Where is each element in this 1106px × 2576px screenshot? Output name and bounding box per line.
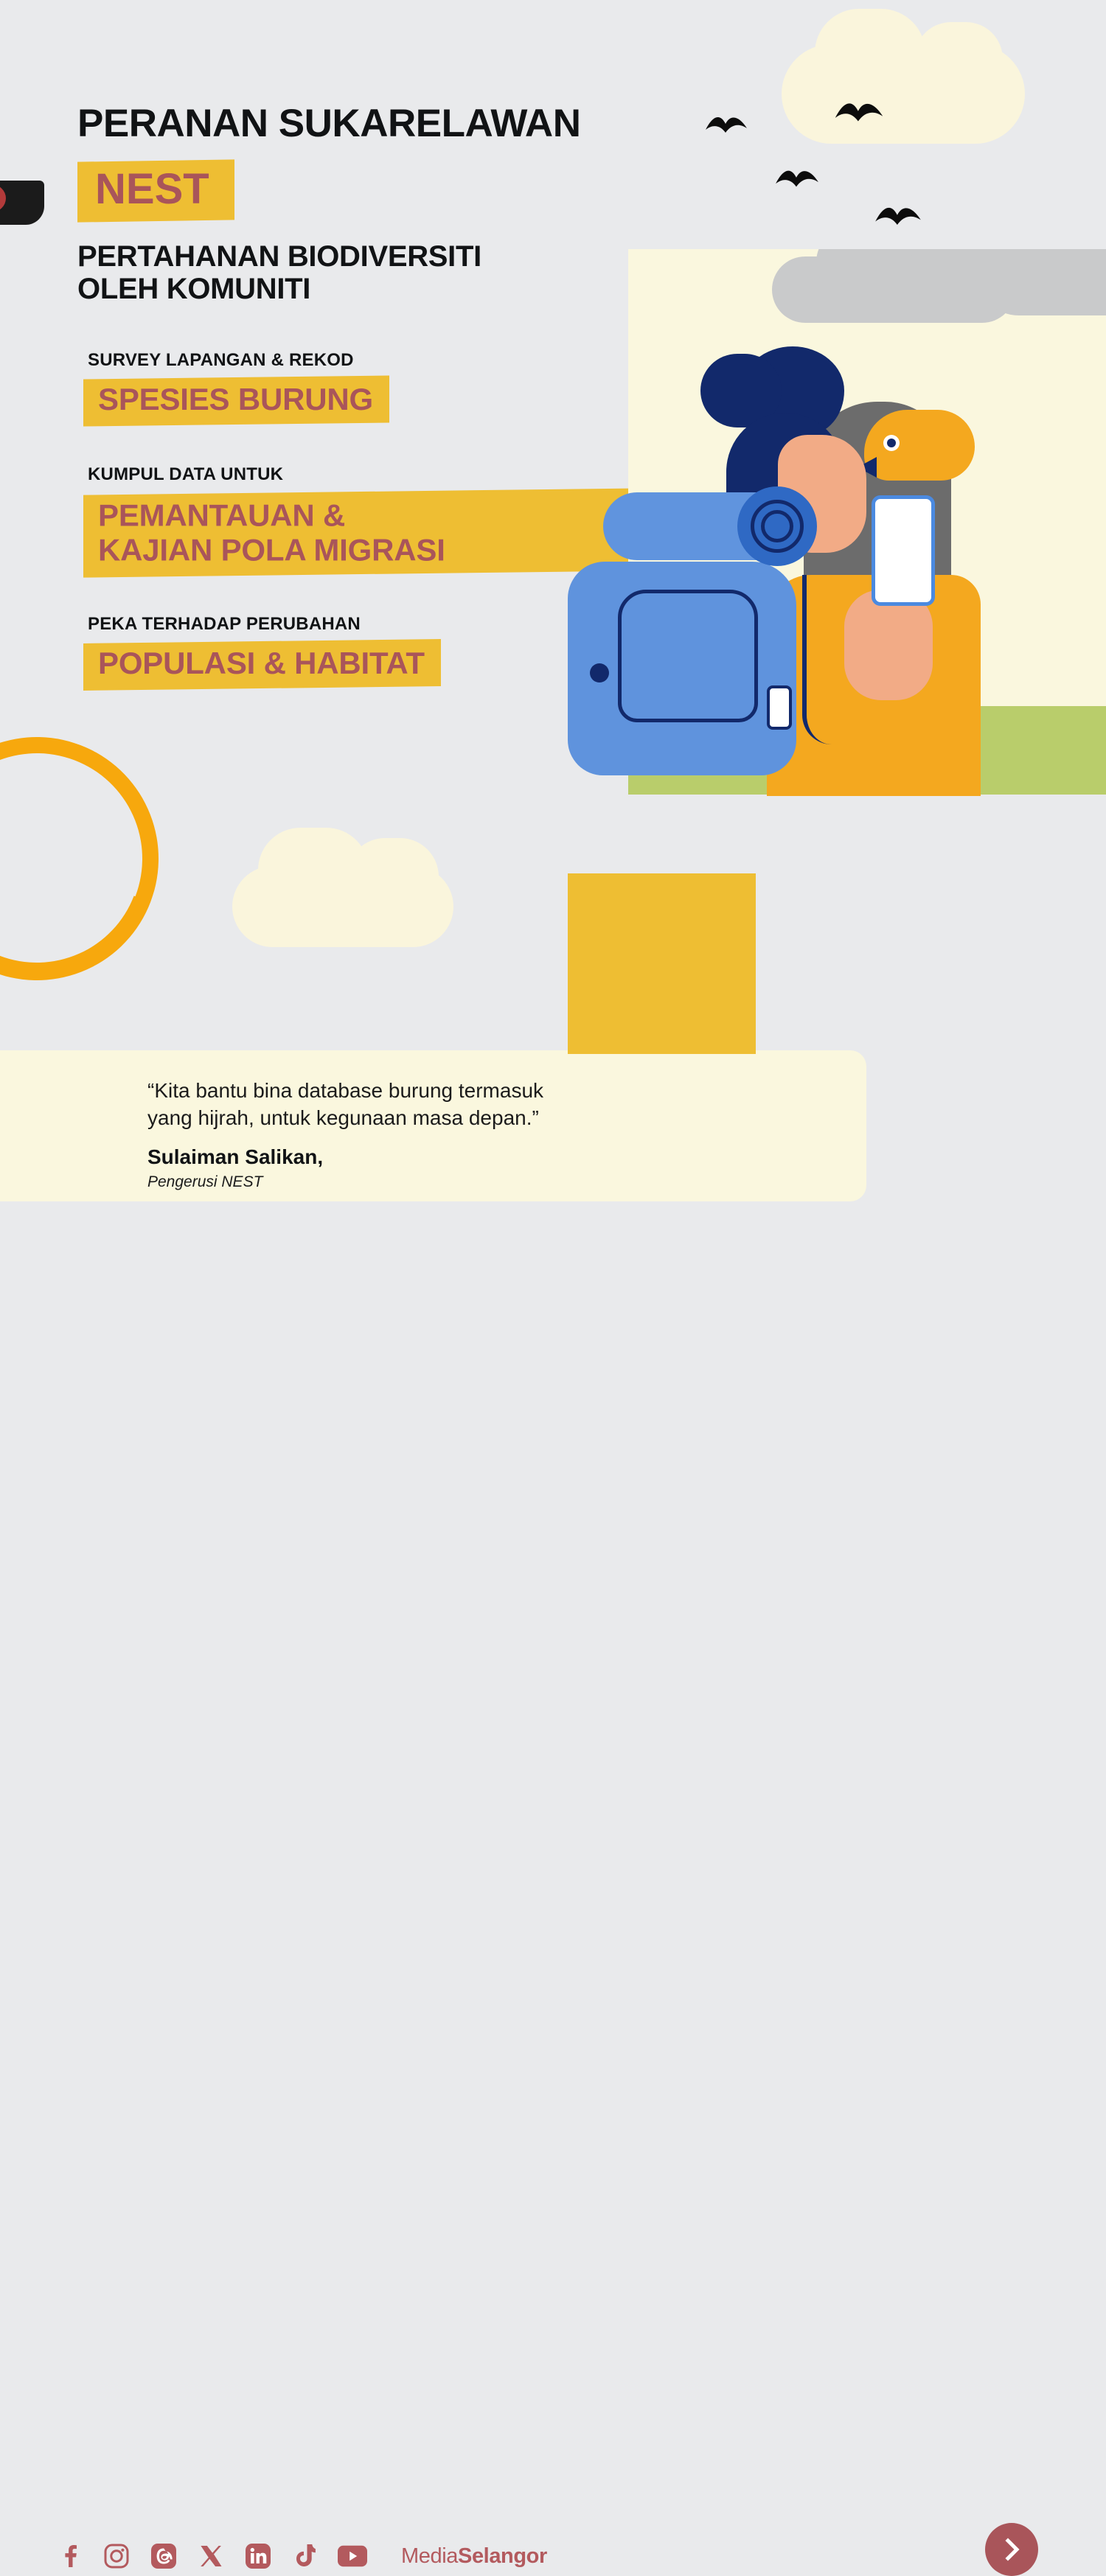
linkedin-icon[interactable] [243, 2541, 273, 2571]
nest-logo-text: EST [0, 833, 57, 896]
key-point-1-highlight: SPESIES BURUNG [83, 375, 389, 426]
perched-bird-silhouette [0, 181, 44, 225]
chevron-right-icon [999, 2537, 1024, 2562]
illustration-cloud-2 [975, 249, 1106, 315]
quote-author-name: Sulaiman Salikan, [147, 1145, 546, 1169]
flying-bird-icon-3 [774, 164, 820, 195]
brandmark-light: Media [401, 2544, 458, 2568]
key-point-1-eyebrow: SURVEY LAPANGAN & REKOD [83, 350, 644, 371]
quote-author-role: Pengerusi NEST [147, 1173, 546, 1191]
brand-highlight-chip: NEST [77, 159, 234, 222]
smartphone-illustration [872, 495, 935, 606]
youtube-icon[interactable] [338, 2541, 367, 2571]
key-point-1: SURVEY LAPANGAN & REKOD SPESIES BURUNG [83, 350, 644, 425]
key-point-2-highlight-line-1: PEMANTAUAN & [98, 498, 345, 533]
backpack-tag [767, 685, 792, 730]
bird-illustration [864, 410, 975, 481]
quote-block: “Kita bantu bina database burung termasu… [147, 1078, 546, 1191]
key-point-2-highlight: PEMANTAUAN & KAJIAN POLA MIGRASI [83, 488, 644, 577]
x-icon[interactable] [196, 2541, 226, 2571]
key-point-2-eyebrow: KUMPUL DATA UNTUK [83, 464, 644, 485]
quote-text: “Kita bantu bina database burung termasu… [147, 1078, 546, 1132]
person-arm [844, 590, 933, 700]
next-slide-button[interactable] [985, 2523, 1038, 2576]
footer: MediaSelangor [0, 1253, 1106, 1382]
headline-area: PERANAN SUKARELAWAN NEST PERTAHANAN BIOD… [77, 103, 682, 306]
facebook-icon[interactable] [55, 2541, 84, 2571]
backpack-strap [802, 575, 846, 744]
tiktok-icon[interactable] [291, 2541, 320, 2571]
page-subtitle: PERTAHANAN BIODIVERSITI OLEH KOMUNITI [77, 240, 682, 307]
instagram-icon[interactable] [102, 2541, 131, 2571]
backpack-pocket [618, 590, 758, 722]
page-subtitle-line-1: PERTAHANAN BIODIVERSITI [77, 240, 682, 273]
key-point-3-highlight: POPULASI & HABITAT [83, 639, 441, 691]
backpack-roll-ring-inner [761, 510, 793, 542]
key-point-2: KUMPUL DATA UNTUK PEMANTAUAN & KAJIAN PO… [83, 464, 644, 574]
media-selangor-logo: MediaSelangor [401, 2544, 547, 2569]
key-point-3: PEKA TERHADAP PERUBAHAN POPULASI & HABIT… [83, 614, 644, 688]
portrait-photo [568, 805, 754, 1054]
brandmark-bold: Selangor [458, 2544, 547, 2568]
nest-logo-mark: EST [0, 737, 159, 980]
page-title: PERANAN SUKARELAWAN [77, 103, 682, 144]
flying-bird-icon-4 [874, 200, 922, 233]
brand-name: NEST [95, 168, 209, 211]
cloud-decoration-mid-left [232, 866, 453, 947]
threads-icon[interactable] [149, 2541, 178, 2571]
backpack-stud [590, 663, 609, 683]
flying-bird-icon-2 [833, 96, 885, 130]
flying-bird-icon-1 [704, 111, 748, 140]
key-point-3-eyebrow: PEKA TERHADAP PERUBAHAN [83, 614, 644, 635]
cloud-decoration-top-right [782, 44, 1025, 144]
key-point-2-highlight-line-2: KAJIAN POLA MIGRASI [98, 532, 445, 568]
bird-pupil [887, 439, 896, 447]
key-point-1-highlight-line-1: SPESIES BURUNG [98, 382, 373, 417]
key-points-list: SURVEY LAPANGAN & REKOD SPESIES BURUNG K… [83, 350, 644, 728]
page-subtitle-line-2: OLEH KOMUNITI [77, 273, 682, 306]
key-point-3-highlight-line-1: POPULASI & HABITAT [98, 646, 425, 681]
social-links-row: MediaSelangor [55, 2541, 547, 2571]
